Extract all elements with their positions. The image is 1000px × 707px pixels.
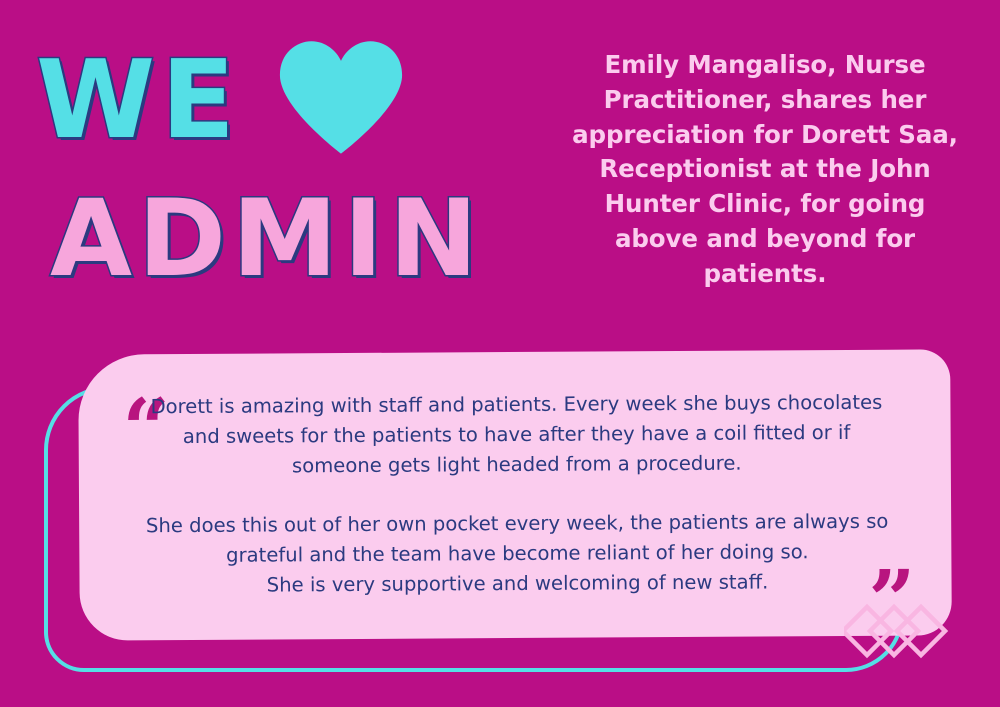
heading-word-admin: ADMIN: [50, 186, 484, 292]
heading-block: WE ADMIN: [30, 38, 530, 308]
intro-paragraph: Emily Mangaliso, Nurse Practitioner, sha…: [570, 48, 960, 291]
heading-line-admin: ADMIN: [50, 186, 484, 292]
poster-canvas: WE ADMIN Emily Mangaliso, Nurse Practiti…: [0, 0, 1000, 707]
quote-card: “ ” Dorett is amazing with staff and pat…: [44, 352, 956, 672]
quote-paragraph-1: Dorett is amazing with staff and patient…: [136, 388, 897, 482]
heart-icon: [275, 38, 407, 158]
quote-paragraph-2: She does this out of her own pocket ever…: [137, 507, 898, 601]
diamonds-icon: [844, 600, 956, 666]
quote-text-block: Dorett is amazing with staff and patient…: [136, 388, 897, 601]
card-body: “ ” Dorett is amazing with staff and pat…: [78, 349, 952, 640]
heading-line-we: WE: [36, 44, 407, 158]
heading-word-we: WE: [36, 47, 241, 155]
